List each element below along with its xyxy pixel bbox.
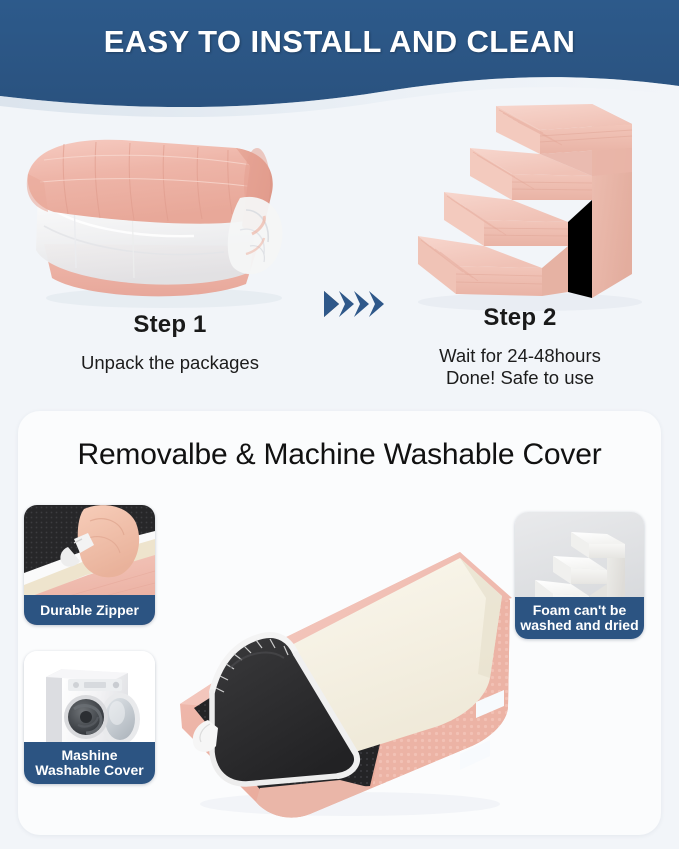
step-1-title: Step 1 [10, 311, 330, 339]
durable-zipper-label-text: Durable Zipper [40, 603, 139, 618]
thumbnail-foam-no-wash[interactable]: Foam can't be washed and dried [515, 512, 644, 639]
machine-washable-label-line-2: Washable Cover [35, 763, 143, 778]
machine-washable-label: Mashine Washable Cover [24, 742, 155, 784]
step-2-title: Step 2 [370, 304, 670, 332]
vacuum-packed-roll-photo [14, 126, 304, 311]
page-title: EASY TO INSTALL AND CLEAN [0, 24, 679, 60]
durable-zipper-label: Durable Zipper [24, 595, 155, 625]
step-2-description-line-1: Wait for 24-48hours [370, 345, 670, 367]
thumbnail-durable-zipper[interactable]: Durable Zipper [24, 505, 155, 625]
cover-peeled-back-photo [160, 492, 530, 822]
thumbnail-machine-washable[interactable]: Mashine Washable Cover [24, 651, 155, 784]
pink-foam-stairs-photo [400, 96, 650, 316]
step-1-caption: Step 1 Unpack the packages [10, 311, 330, 374]
step-1-description: Unpack the packages [10, 352, 330, 374]
foam-no-wash-label: Foam can't be washed and dried [515, 597, 644, 639]
cover-card-title: Removalbe & Machine Washable Cover [18, 438, 661, 472]
step-2-description: Wait for 24-48hours Done! Safe to use [370, 345, 670, 389]
step-2-image [400, 96, 650, 316]
step-1-image [14, 126, 304, 311]
machine-washable-label-line-1: Mashine [61, 748, 117, 763]
step-2-description-line-2: Done! Safe to use [370, 367, 670, 389]
steps-section: Step 1 Unpack the packages Step 2 Wait f… [0, 96, 679, 406]
step-2-caption: Step 2 Wait for 24-48hours Done! Safe to… [370, 304, 670, 389]
foam-no-wash-label-line-1: Foam can't be [533, 603, 627, 618]
foam-no-wash-label-line-2: washed and dried [520, 618, 638, 633]
